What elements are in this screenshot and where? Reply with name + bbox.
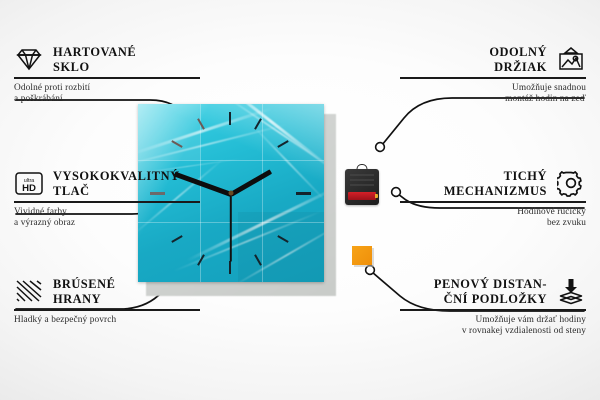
feature-title: TICHÝ MECHANIZMUS [444,168,547,198]
subtitle-line-1: Odolné proti rozbití [14,83,90,93]
node-durable-holder [376,143,385,152]
diamond-icon [14,44,44,74]
title-line-2: DRŽIAK [494,60,547,74]
title-line-2: MECHANIZMUS [444,184,547,198]
feature-subtitle: Odolné proti rozbití a poškrábání [14,83,200,106]
picture-hanger-icon [556,44,586,74]
subtitle-line-1: Hladký a bezpečný povrch [14,315,116,325]
title-line-1: PENOVÝ DISTAN- [434,277,547,291]
divider [14,309,200,311]
subtitle-line-2: a výrazný obraz [14,218,75,228]
title-line-1: ODOLNÝ [489,45,547,59]
infographic-stage: HARTOVANÉ SKLO Odolné proti rozbití a po… [0,0,600,400]
feature-title: PENOVÝ DISTAN- ČNÍ PODLOŽKY [434,276,547,306]
clock-mechanism [345,169,379,205]
feature-subtitle: Umožňuje vám držať hodiny v rovnakej vzd… [400,315,586,338]
second-hand [230,194,232,262]
feature-title: BRÚSENÉ HRANY [53,276,115,306]
title-line-2: ČNÍ PODLOŽKY [444,292,547,306]
subtitle-line-1: Hodinové ručičky [517,207,586,217]
foam-spacer-pad [352,246,372,265]
title-line-1: TICHÝ [504,169,547,183]
divider [14,77,200,79]
feature-title: VYSOKOKVALITNÝ TLAČ [53,168,180,198]
battery [348,192,376,200]
feature-subtitle: Hodinové ručičky bez zvuku [400,207,586,230]
feature-subtitle: Umožňuje snadnou montáž hodin na zeď [400,83,586,106]
feature-high-quality-print: ultra HD VYSOKOKVALITNÝ TLAČ Vividné far… [14,168,200,230]
feature-durable-holder: ODOLNÝ DRŽIAK Umožňuje snadnou montáž ho… [400,44,586,106]
feature-subtitle: Vividné farby a výrazný obraz [14,207,200,230]
subtitle-line-1: Umožňuje vám držať hodiny [476,315,587,325]
hatched-edge-icon [14,276,44,306]
divider [400,77,586,79]
subtitle-line-2: a poškrábání [14,94,63,104]
feature-tempered-glass: HARTOVANÉ SKLO Odolné proti rozbití a po… [14,44,200,106]
divider [14,201,200,203]
subtitle-line-2: v rovnakej vzdialenosti od steny [462,326,586,336]
title-line-1: BRÚSENÉ [53,277,115,291]
hour-hand [230,169,272,196]
feature-title: ODOLNÝ DRŽIAK [489,44,547,74]
svg-text:HD: HD [22,183,36,194]
divider [400,201,586,203]
ultra-hd-icon: ultra HD [14,168,44,198]
feature-polished-edges: BRÚSENÉ HRANY Hladký a bezpečný povrch [14,276,200,326]
title-line-1: VYSOKOKVALITNÝ [53,169,180,183]
subtitle-line-2: montáž hodin na zeď [505,94,586,104]
title-line-2: SKLO [53,60,90,74]
title-line-1: HARTOVANÉ [53,45,136,59]
feature-foam-spacers: PENOVÝ DISTAN- ČNÍ PODLOŽKY Umožňuje vám… [400,276,586,338]
feature-silent-mechanism: TICHÝ MECHANIZMUS Hodinové ručičky bez z… [400,168,586,230]
feature-subtitle: Hladký a bezpečný povrch [14,315,200,326]
stacked-pads-icon [556,276,586,306]
node-foam-spacers [366,266,375,275]
subtitle-line-2: bez zvuku [547,218,586,228]
gear-icon [556,168,586,198]
subtitle-line-1: Umožňuje snadnou [512,83,586,93]
title-line-2: HRANY [53,292,101,306]
feature-title: HARTOVANÉ SKLO [53,44,136,74]
title-line-2: TLAČ [53,184,90,198]
divider [400,309,586,311]
clock-center-pin [229,191,234,196]
subtitle-line-1: Vividné farby [14,207,67,217]
